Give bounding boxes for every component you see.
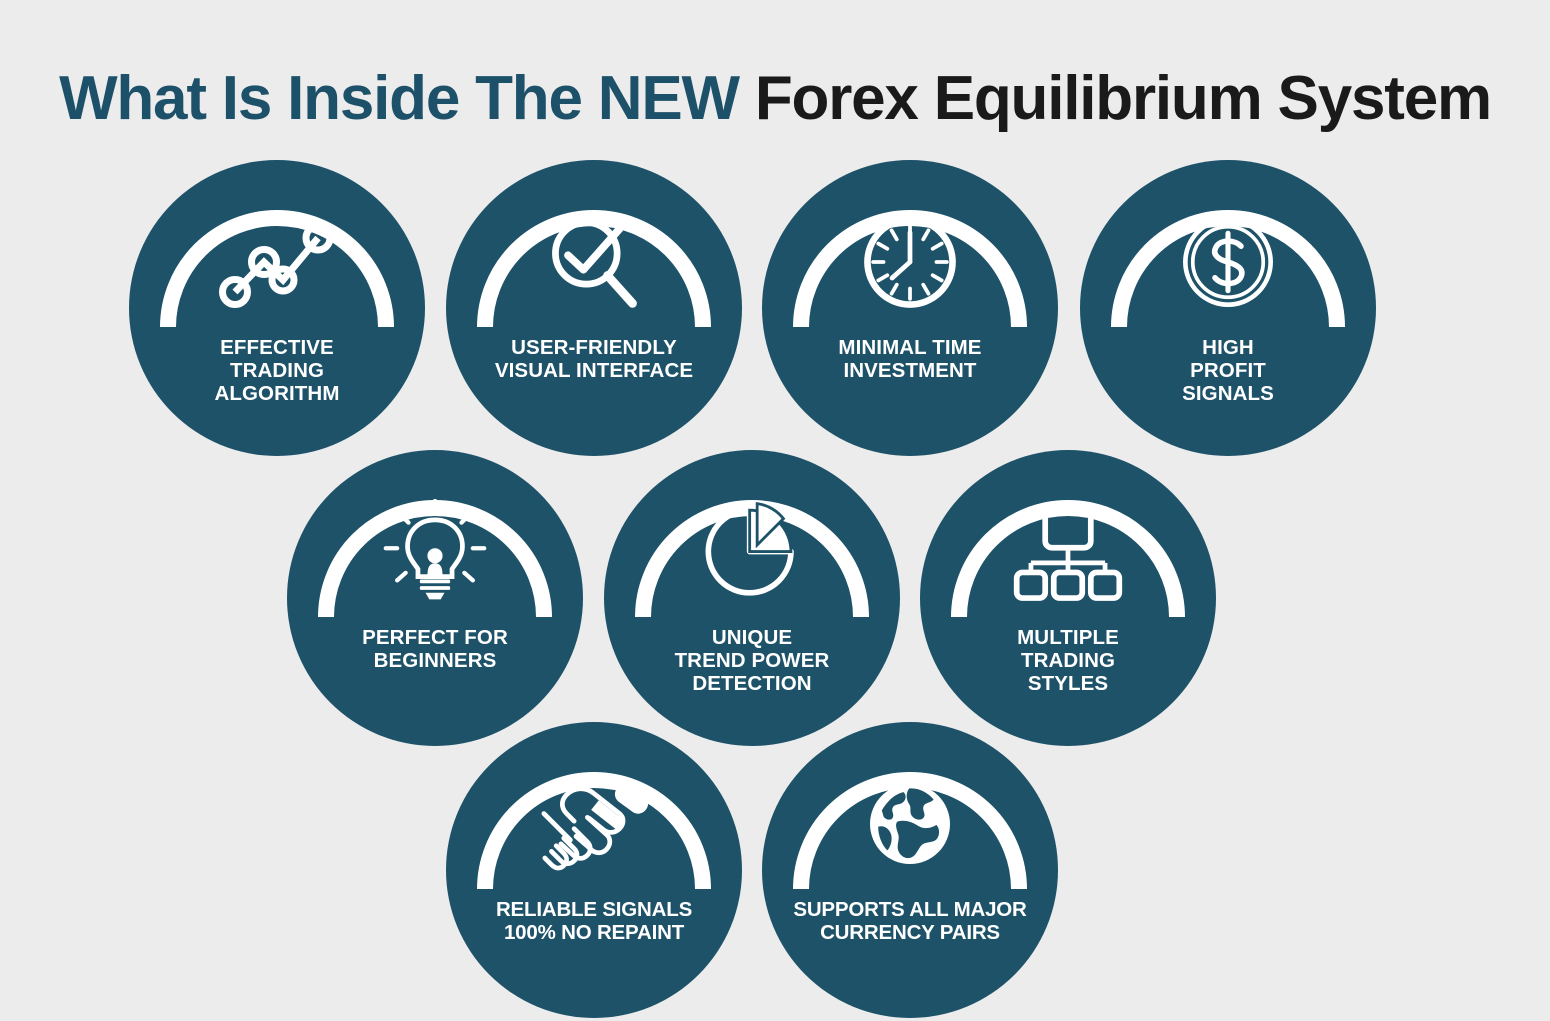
badge-label: PERFECT FOR BEGINNERS <box>287 626 583 672</box>
badge-high-profit-signals[interactable]: HIGH PROFIT SIGNALS <box>1080 160 1376 456</box>
globe-icon <box>845 768 975 880</box>
handshake-icon <box>529 768 659 880</box>
clock-icon <box>845 206 975 318</box>
badge-label: SUPPORTS ALL MAJOR CURRENCY PAIRS <box>762 898 1058 944</box>
hierarchy-icon <box>1003 496 1133 608</box>
feature-badge-grid: EFFECTIVE TRADING ALGORITHM USER-FRIENDL… <box>0 0 1550 1021</box>
badge-label: USER-FRIENDLY VISUAL INTERFACE <box>446 336 742 382</box>
badge-label: MINIMAL TIME INVESTMENT <box>762 336 1058 382</box>
dollar-coin-icon <box>1163 206 1293 318</box>
badge-perfect-for-beginners[interactable]: PERFECT FOR BEGINNERS <box>287 450 583 746</box>
magnifier-check-icon <box>529 206 659 318</box>
badge-multiple-trading-styles[interactable]: MULTIPLE TRADING STYLES <box>920 450 1216 746</box>
badge-supports-all-major-currency-pairs[interactable]: SUPPORTS ALL MAJOR CURRENCY PAIRS <box>762 722 1058 1018</box>
line-chart-icon <box>212 206 342 318</box>
badge-effective-trading-algorithm[interactable]: EFFECTIVE TRADING ALGORITHM <box>129 160 425 456</box>
badge-unique-trend-power-detection[interactable]: UNIQUE TREND POWER DETECTION <box>604 450 900 746</box>
badge-user-friendly-visual-interface[interactable]: USER-FRIENDLY VISUAL INTERFACE <box>446 160 742 456</box>
pie-chart-icon <box>687 496 817 608</box>
badge-label: RELIABLE SIGNALS 100% NO REPAINT <box>446 898 742 944</box>
badge-minimal-time-investment[interactable]: MINIMAL TIME INVESTMENT <box>762 160 1058 456</box>
lightbulb-icon <box>370 496 500 608</box>
badge-label: EFFECTIVE TRADING ALGORITHM <box>129 336 425 405</box>
badge-label: UNIQUE TREND POWER DETECTION <box>604 626 900 695</box>
badge-reliable-signals-no-repaint[interactable]: RELIABLE SIGNALS 100% NO REPAINT <box>446 722 742 1018</box>
badge-label: HIGH PROFIT SIGNALS <box>1080 336 1376 405</box>
badge-label: MULTIPLE TRADING STYLES <box>920 626 1216 695</box>
